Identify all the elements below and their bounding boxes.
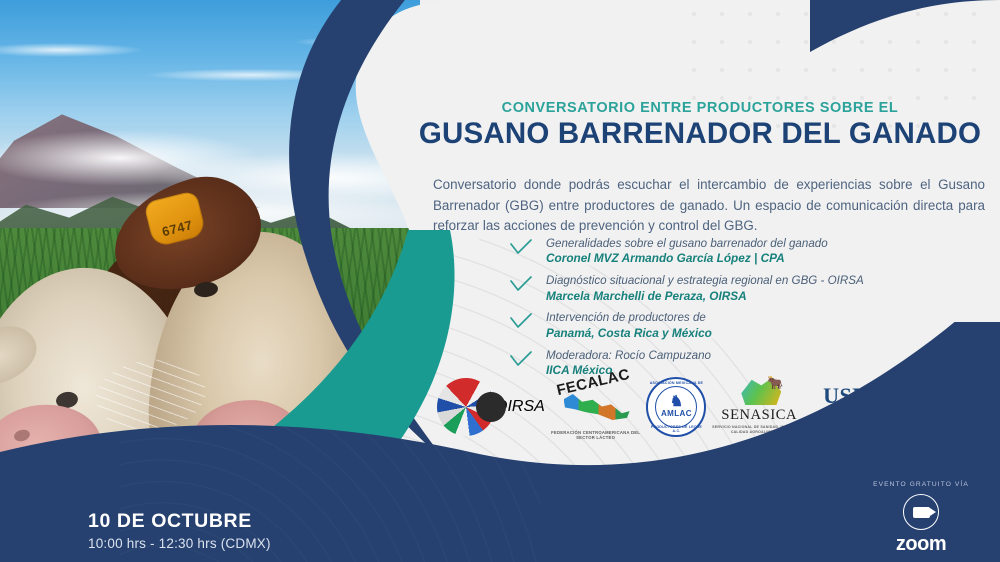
- list-item: Diagnóstico situacional y estrategia reg…: [510, 273, 940, 304]
- agenda-topic: Diagnóstico situacional y estrategia reg…: [546, 273, 940, 288]
- senasica-wordmark: SENASICA: [711, 407, 807, 424]
- list-item: Generalidades sobre el gusano barrenador…: [510, 236, 940, 267]
- lead-paragraph: Conversatorio donde podrás escuchar el i…: [433, 175, 985, 237]
- list-item: Intervención de productores de Panamá, C…: [510, 310, 940, 341]
- agenda-list: Generalidades sobre el gusano barrenador…: [510, 236, 940, 385]
- fecalac-caption: FEDERACIÓN CENTROAMERICANA DEL SECTOR LÁ…: [550, 430, 642, 440]
- page-title: GUSANO BARRENADOR DEL GANADO: [415, 117, 985, 151]
- agenda-topic: Intervención de productores de: [546, 310, 940, 325]
- amlac-logo: ASOCIACIÓN MEXICANA DE ♞ AMLAC PRODUCTOR…: [646, 377, 706, 437]
- zoom-platform-badge: EVENTO GRATUITO VÍA zoom: [866, 481, 976, 556]
- event-date-block: 10 DE OCTUBRE 10:00 hrs - 12:30 hrs (CDM…: [88, 510, 271, 551]
- agenda-speaker: Marcela Marchelli de Peraza, OIRSA: [546, 289, 940, 305]
- poster: 6747 CONVERSATORIO ENTRE PRODUCTORES SOB…: [0, 0, 1000, 562]
- agenda-speaker: Panamá, Costa Rica y México: [546, 326, 940, 342]
- agenda-topic: Moderadora: Rocío Campuzano: [546, 348, 940, 363]
- central-america-map-icon: [564, 394, 630, 420]
- amlac-wordmark: AMLAC: [646, 409, 706, 418]
- platform-label: EVENTO GRATUITO VÍA: [866, 481, 976, 488]
- amlac-caption-bottom: PRODUCTORES DE LECHE A.C.: [646, 425, 706, 433]
- amlac-caption-top: ASOCIACIÓN MEXICANA DE: [646, 381, 706, 385]
- fecalac-logo: FECALAC FEDERACIÓN CENTROAMERICANA DEL S…: [550, 376, 642, 438]
- check-icon: [510, 276, 532, 292]
- event-date: 10 DE OCTUBRE: [88, 510, 271, 533]
- check-icon: [510, 351, 532, 367]
- eyebrow-text: CONVERSATORIO ENTRE PRODUCTORES SOBRE EL: [415, 100, 985, 116]
- agenda-speaker: Coronel MVZ Armando García López | CPA: [546, 251, 940, 267]
- zoom-wordmark: zoom: [866, 533, 976, 556]
- oirsa-logo: OIRSA: [437, 378, 545, 436]
- check-icon: [510, 313, 532, 329]
- check-icon: [510, 239, 532, 255]
- agenda-topic: Generalidades sobre el gusano barrenador…: [546, 236, 940, 251]
- oirsa-flag-ring: [437, 378, 495, 436]
- cow-icon: ♞: [670, 392, 683, 410]
- event-time: 10:00 hrs - 12:30 hrs (CDMX): [88, 536, 271, 551]
- video-camera-icon: [903, 494, 939, 530]
- amlac-ring: ASOCIACIÓN MEXICANA DE ♞ AMLAC PRODUCTOR…: [646, 377, 706, 437]
- senasica-animal-icon: 🐂: [767, 375, 783, 391]
